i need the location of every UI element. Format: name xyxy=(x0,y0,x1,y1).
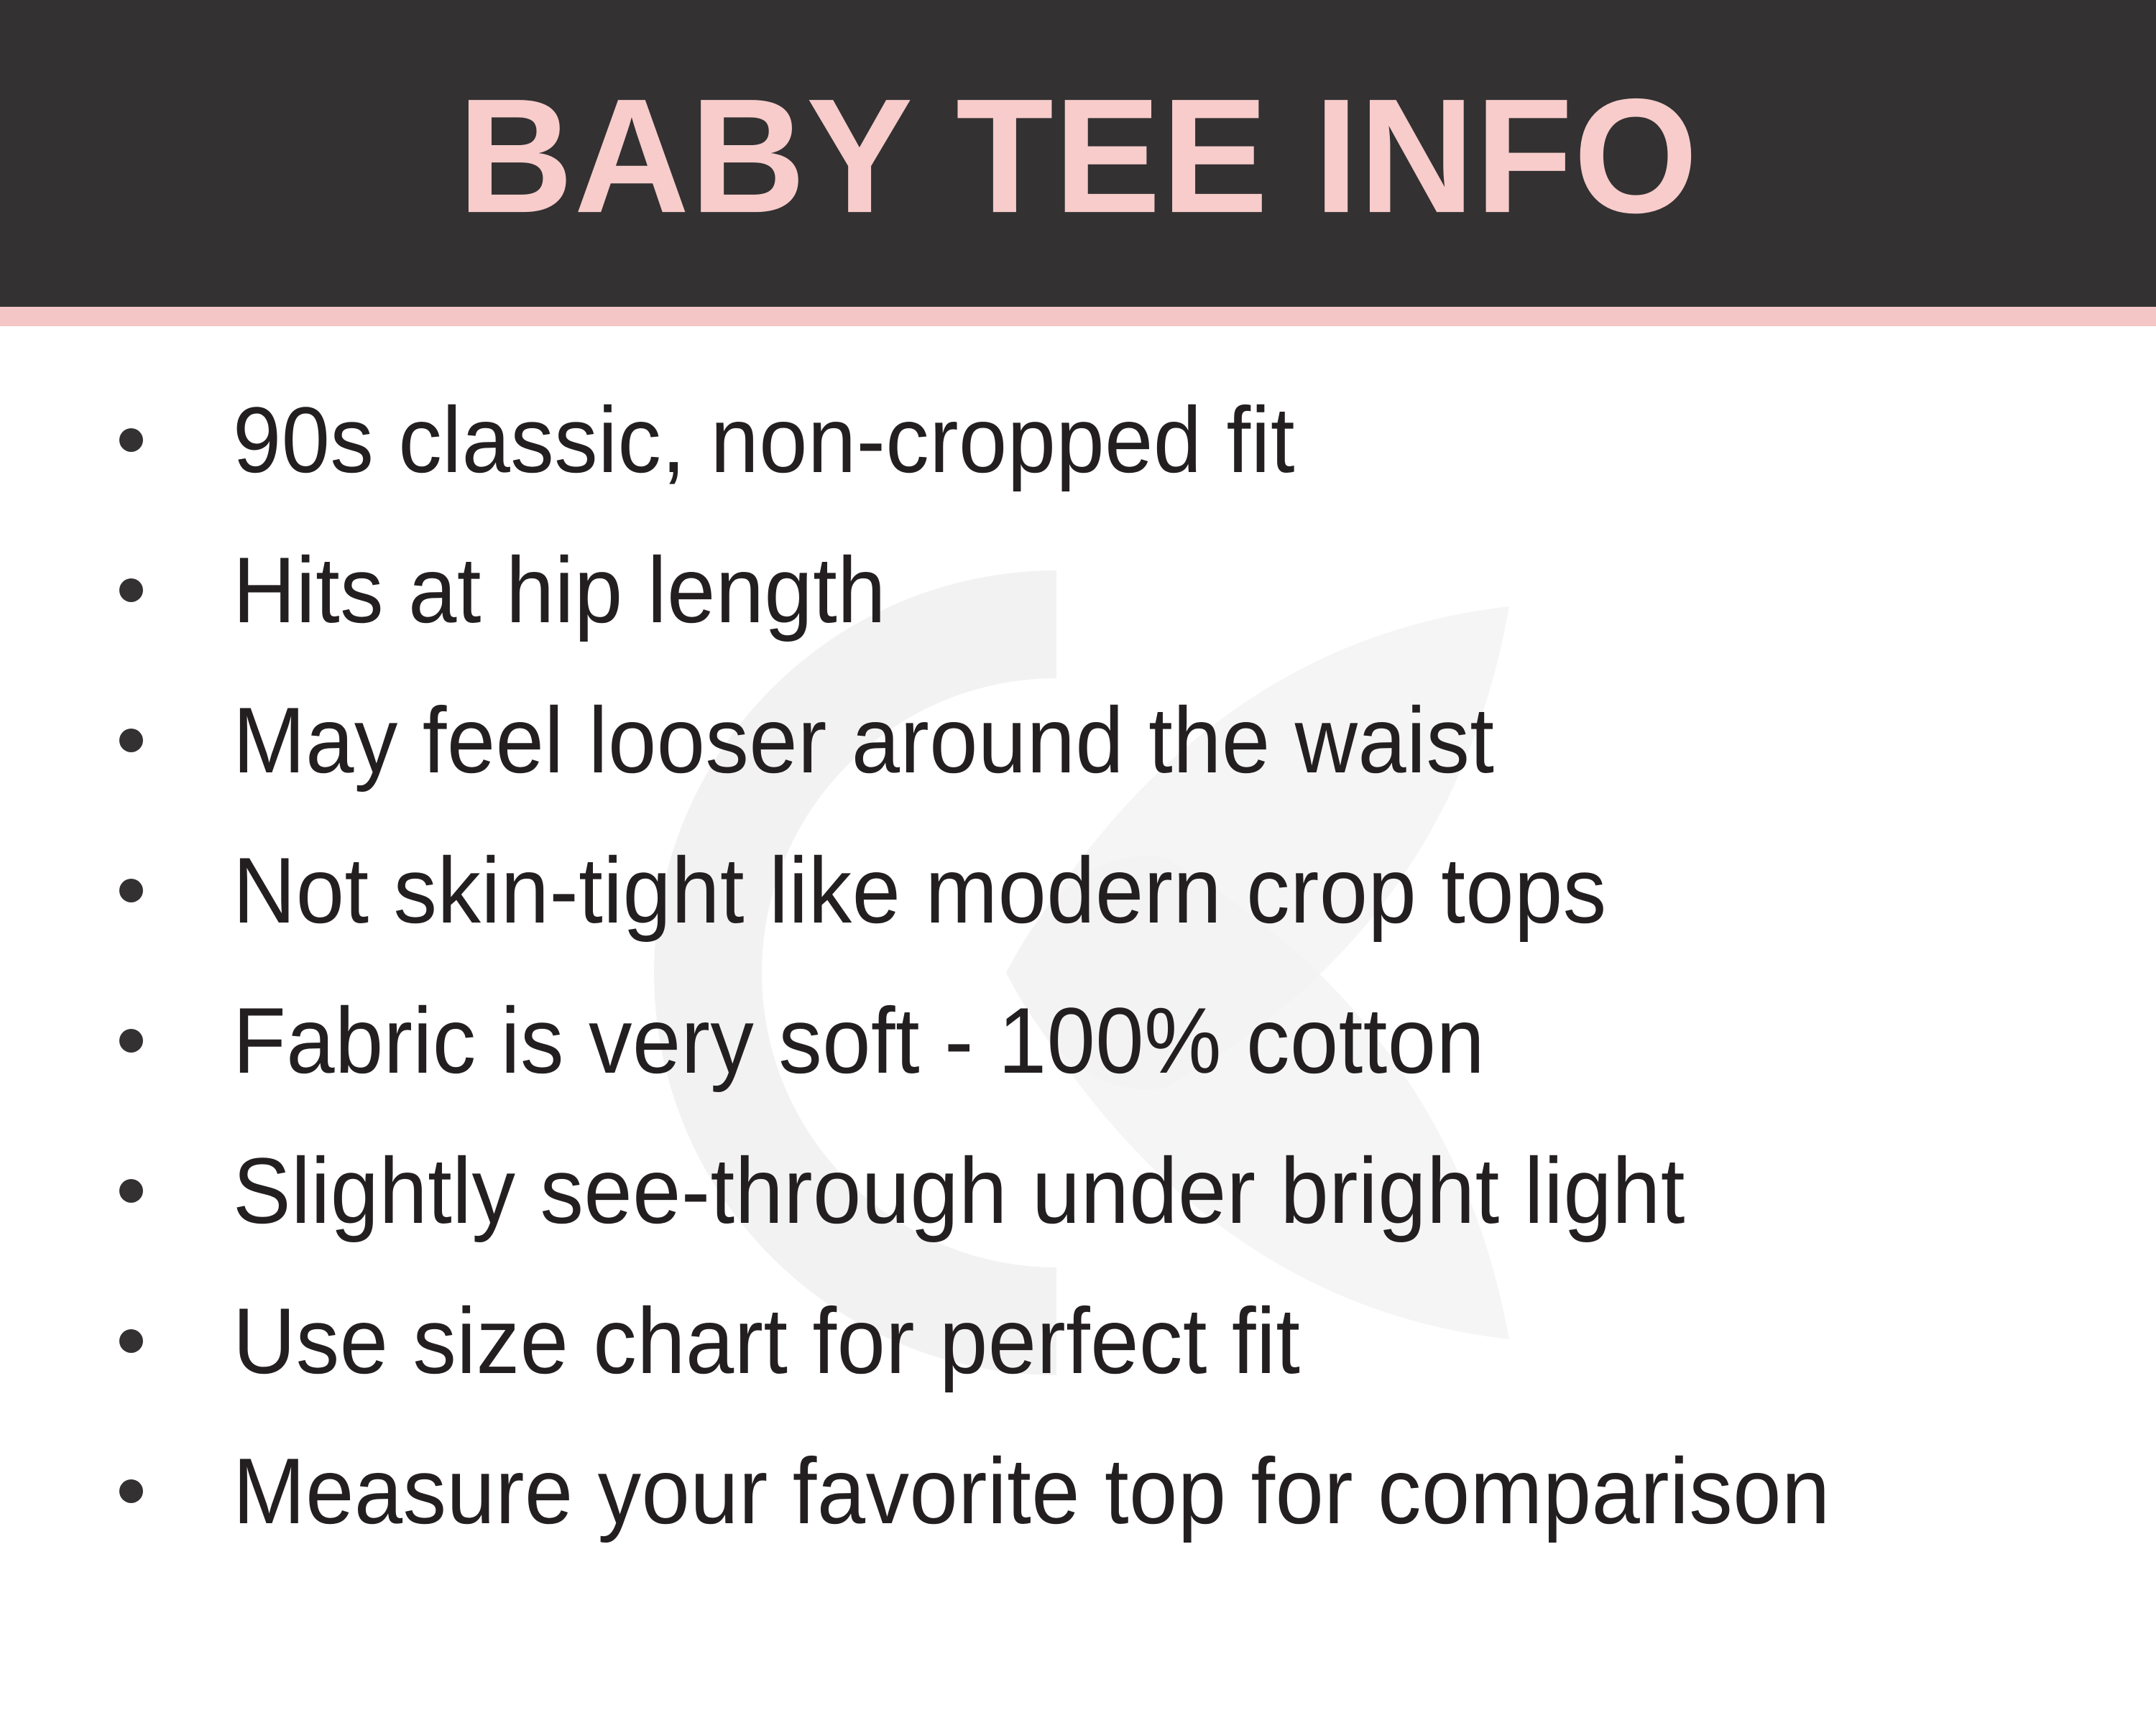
list-item: Not skin-tight like modern crop tops xyxy=(108,833,2120,948)
bullet-list: 90s classic, non-cropped fit Hits at hip… xyxy=(0,326,2156,1710)
list-item-label: Slightly see-through under bright light xyxy=(233,1144,1685,1237)
header-bar: BABY TEE INFO xyxy=(0,0,2156,307)
list-item: Measure your favorite top for comparison xyxy=(108,1433,2120,1548)
list-item: Slightly see-through under bright light xyxy=(108,1133,2120,1248)
bullet-marker-icon xyxy=(119,578,143,602)
accent-stripe xyxy=(0,307,2156,326)
list-item-label: Use size chart for perfect fit xyxy=(233,1294,1300,1387)
bullet-marker-icon xyxy=(119,729,143,752)
list-item-label: May feel looser around the waist xyxy=(233,693,1494,787)
bullet-marker-icon xyxy=(119,1329,143,1353)
list-item: Hits at hip length xyxy=(108,532,2120,647)
list-item: Use size chart for perfect fit xyxy=(108,1283,2120,1398)
list-item: May feel looser around the waist xyxy=(108,683,2120,798)
list-item: 90s classic, non-cropped fit xyxy=(108,382,2120,497)
list-item-label: 90s classic, non-cropped fit xyxy=(233,393,1295,486)
list-item-label: Hits at hip length xyxy=(233,543,886,637)
bullet-marker-icon xyxy=(119,1179,143,1203)
bullet-marker-icon xyxy=(119,1479,143,1503)
page-title: BABY TEE INFO xyxy=(458,69,1698,238)
list-item-label: Measure your favorite top for comparison xyxy=(233,1444,1830,1538)
bullet-marker-icon xyxy=(119,428,143,452)
bullet-marker-icon xyxy=(119,879,143,902)
list-item-label: Fabric is very soft - 100% cotton xyxy=(233,994,1485,1087)
bullet-marker-icon xyxy=(119,1029,143,1053)
list-item: Fabric is very soft - 100% cotton xyxy=(108,983,2120,1098)
list-item-label: Not skin-tight like modern crop tops xyxy=(233,844,1607,937)
info-card: BABY TEE INFO 90s classic, non-cropped f… xyxy=(0,0,2156,1710)
